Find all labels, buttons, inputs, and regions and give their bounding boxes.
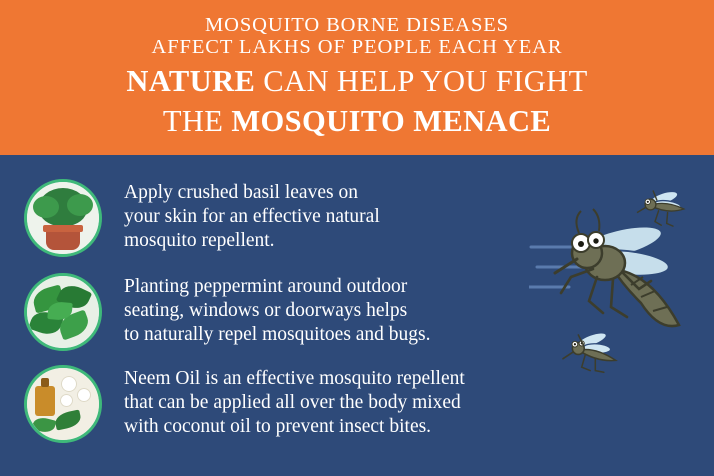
header-line-3: NATURE CAN HELP YOU FIGHT <box>0 65 714 98</box>
list-item: Apply crushed basil leaves on your skin … <box>0 179 560 257</box>
tip-line: seating, windows or doorways helps <box>124 299 431 323</box>
neem-oil-icon <box>24 365 102 443</box>
infographic-poster: MOSQUITO BORNE DISEASES AFFECT LAKHS OF … <box>0 0 714 476</box>
tip-line: mosquito repellent. <box>124 229 380 253</box>
tip-line: that can be applied all over the body mi… <box>124 391 465 415</box>
tip-line: Neem Oil is an effective mosquito repell… <box>124 367 465 391</box>
basil-plant-icon <box>24 179 102 257</box>
header-line-3-emphasis: NATURE <box>126 64 255 98</box>
header-line-1: MOSQUITO BORNE DISEASES <box>0 14 714 36</box>
tip-line: your skin for an effective natural <box>124 205 380 229</box>
mosquito-small-bottom-icon <box>563 330 616 372</box>
tip-line: Planting peppermint around outdoor <box>124 275 431 299</box>
body-panel: Apply crushed basil leaves on your skin … <box>0 155 714 476</box>
tip-text: Apply crushed basil leaves on your skin … <box>124 179 380 254</box>
tip-line: with coconut oil to prevent insect bites… <box>124 415 465 439</box>
tip-text: Neem Oil is an effective mosquito repell… <box>124 365 465 440</box>
tip-text: Planting peppermint around outdoor seati… <box>124 273 431 348</box>
list-item: Neem Oil is an effective mosquito repell… <box>0 365 560 443</box>
mosquito-small-top-icon <box>637 189 684 226</box>
header-line-4-emphasis: MOSQUITO MENACE <box>231 104 551 138</box>
tip-line: to naturally repel mosquitoes and bugs. <box>124 323 431 347</box>
tip-line: Apply crushed basil leaves on <box>124 181 380 205</box>
header-line-4-prefix: THE <box>163 104 232 138</box>
header-line-3-rest: CAN HELP YOU FIGHT <box>255 64 587 98</box>
header-banner: MOSQUITO BORNE DISEASES AFFECT LAKHS OF … <box>0 0 714 155</box>
peppermint-plant-icon <box>24 273 102 351</box>
header-line-4: THE MOSQUITO MENACE <box>0 105 714 138</box>
list-item: Planting peppermint around outdoor seati… <box>0 273 560 351</box>
tips-list: Apply crushed basil leaves on your skin … <box>0 155 560 459</box>
mosquito-large-icon <box>555 209 679 326</box>
header-line-2: AFFECT LAKHS OF PEOPLE EACH YEAR <box>0 36 714 58</box>
